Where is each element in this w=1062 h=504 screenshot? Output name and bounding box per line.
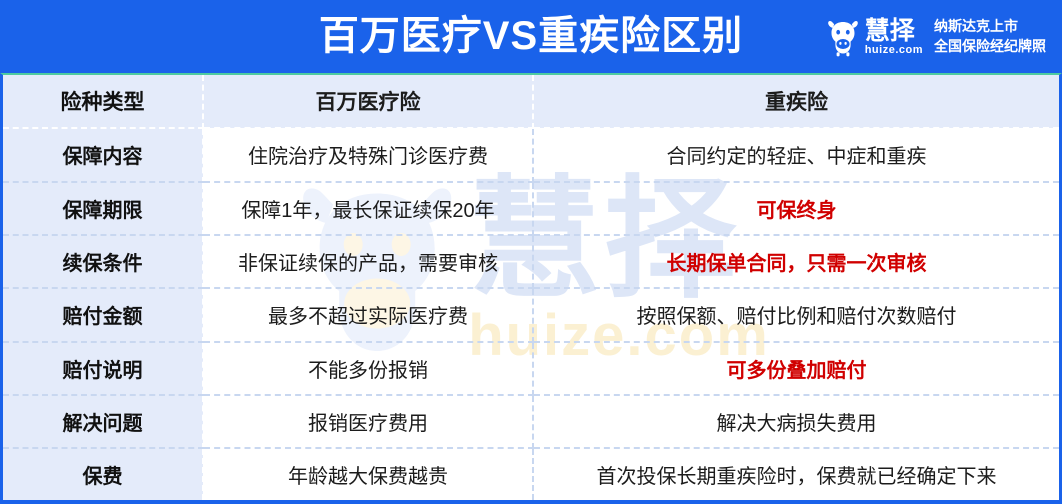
brand-url: huize.com: [865, 44, 923, 57]
brand-mark: 慧择 huize.com: [826, 17, 923, 57]
table-row: 续保条件 非保证续保的产品，需要审核 长期保单合同，只需一次审核: [3, 235, 1059, 288]
comparison-table-container: 慧择 huize.com 险种类型 百万医疗险 重疾险 保障内容 住院治疗: [0, 73, 1062, 504]
cell-critical-illness: 长期保单合同，只需一次审核: [533, 235, 1059, 288]
row-label: 解决问题: [3, 395, 203, 448]
brand-wordmark: 慧择 huize.com: [865, 18, 923, 57]
cell-critical-illness: 可多份叠加赔付: [533, 342, 1059, 395]
cell-million-medical: 报销医疗费用: [203, 395, 533, 448]
cell-critical-illness: 可保终身: [533, 182, 1059, 235]
table-row: 赔付金额 最多不超过实际医疗费 按照保额、赔付比例和赔付次数赔付: [3, 288, 1059, 341]
cell-critical-illness: 首次投保长期重疾险时，保费就已经确定下来: [533, 448, 1059, 500]
row-label: 赔付说明: [3, 342, 203, 395]
cell-million-medical: 非保证续保的产品，需要审核: [203, 235, 533, 288]
table-header-row: 险种类型 百万医疗险 重疾险: [3, 75, 1059, 128]
brand-tagline-1: 纳斯达克上市: [934, 18, 1046, 35]
cell-critical-illness: 解决大病损失费用: [533, 395, 1059, 448]
cell-critical-illness: 按照保额、赔付比例和赔付次数赔付: [533, 288, 1059, 341]
column-header-million-medical: 百万医疗险: [203, 75, 533, 128]
row-label: 保费: [3, 448, 203, 500]
table-row: 保障内容 住院治疗及特殊门诊医疗费 合同约定的轻症、中症和重疾: [3, 128, 1059, 181]
brand-tagline-2: 全国保险经纪牌照: [934, 38, 1046, 55]
row-label: 赔付金额: [3, 288, 203, 341]
row-label: 续保条件: [3, 235, 203, 288]
cell-critical-illness: 合同约定的轻症、中症和重疾: [533, 128, 1059, 181]
column-header-critical-illness: 重疾险: [533, 75, 1059, 128]
cell-million-medical: 最多不超过实际医疗费: [203, 288, 533, 341]
table-row: 赔付说明 不能多份报销 可多份叠加赔付: [3, 342, 1059, 395]
cell-million-medical: 保障1年，最长保证续保20年: [203, 182, 533, 235]
row-label: 保障期限: [3, 182, 203, 235]
column-header-type: 险种类型: [3, 75, 203, 128]
table-row: 保费 年龄越大保费越贵 首次投保长期重疾险时，保费就已经确定下来: [3, 448, 1059, 500]
brand-lockup: 慧择 huize.com 纳斯达克上市 全国保险经纪牌照: [826, 17, 1046, 57]
header-banner: 百万医疗VS重疾险区别: [0, 0, 1062, 73]
row-label: 保障内容: [3, 128, 203, 181]
table-row: 解决问题 报销医疗费用 解决大病损失费用: [3, 395, 1059, 448]
table-body: 险种类型 百万医疗险 重疾险 保障内容 住院治疗及特殊门诊医疗费 合同约定的轻症…: [3, 75, 1059, 500]
cow-mascot-icon: [826, 17, 860, 57]
brand-taglines: 纳斯达克上市 全国保险经纪牌照: [932, 18, 1046, 55]
cell-million-medical: 年龄越大保费越贵: [203, 448, 533, 500]
table-row: 保障期限 保障1年，最长保证续保20年 可保终身: [3, 182, 1059, 235]
cell-million-medical: 住院治疗及特殊门诊医疗费: [203, 128, 533, 181]
comparison-table: 险种类型 百万医疗险 重疾险 保障内容 住院治疗及特殊门诊医疗费 合同约定的轻症…: [3, 75, 1059, 500]
cell-million-medical: 不能多份报销: [203, 342, 533, 395]
brand-name: 慧择: [865, 18, 915, 44]
page-title: 百万医疗VS重疾险区别: [319, 0, 743, 73]
infographic-page: 百万医疗VS重疾险区别: [0, 0, 1062, 504]
